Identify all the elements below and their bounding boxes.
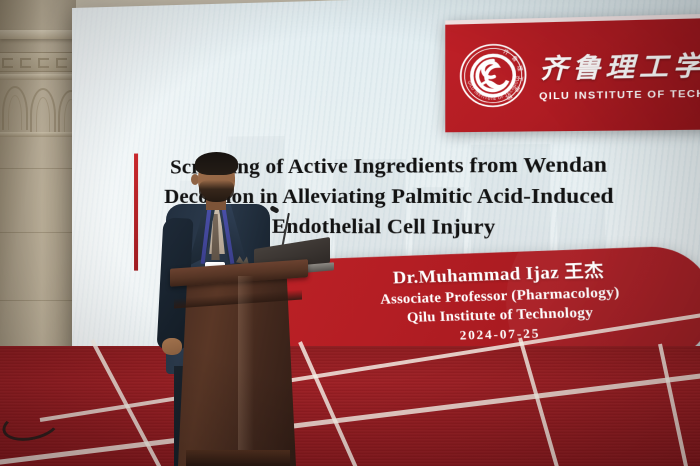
presenter-hand [162,338,182,355]
lectern-highlight [238,276,254,458]
qilu-institute-emblem: 齐 鲁 理 工 学 院 QILU INSTITUTE OF TECHNOLOGY [459,42,528,109]
presenter-beard [199,180,234,202]
red-carpet [0,346,700,466]
institute-logo-text: 齐鲁理工学院 QILU INSTITUTE OF TECHNOLOGY [539,43,700,102]
presenter-hair [195,152,238,175]
institute-name-cn: 齐鲁理工学院 [539,43,700,86]
institute-name-en: QILU INSTITUTE OF TECHNOLOGY [539,87,700,102]
institute-header-banner: 齐 鲁 理 工 学 院 QILU INSTITUTE OF TECHNOLOGY… [445,13,700,132]
presentation-photo-scene: 齐 鲁 理 工 学 院 QILU INSTITUTE OF TECHNOLOGY… [0,0,700,466]
speaker-name: Dr.Muhammad Ijaz 王杰 [340,253,661,290]
lectern-base [186,450,290,466]
slide-red-accent-bar [134,154,138,271]
